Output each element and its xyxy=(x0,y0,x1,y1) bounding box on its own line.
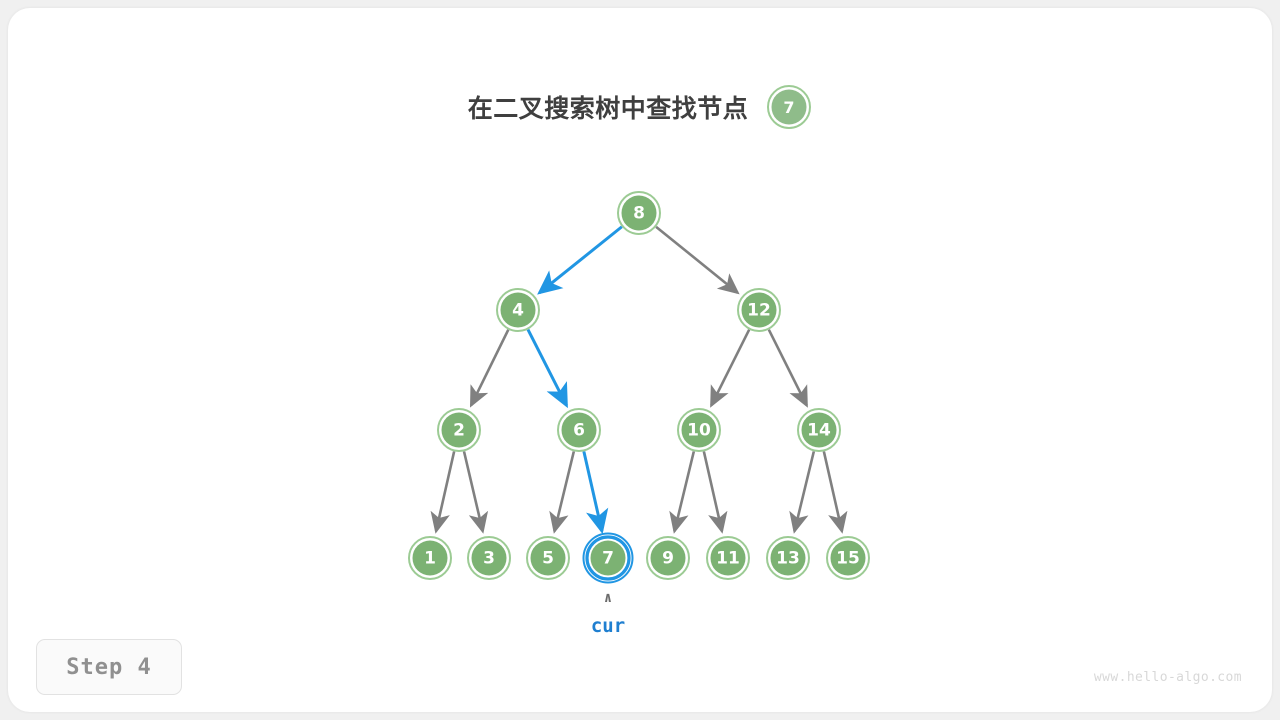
tree-node-9[interactable]: 9 xyxy=(647,537,689,579)
watermark: www.hello-algo.com xyxy=(1094,670,1242,685)
cur-caret-icon: ∧ xyxy=(604,590,612,606)
step-badge-label: Step 4 xyxy=(66,655,151,680)
tree-edge xyxy=(464,451,483,531)
node-value: 13 xyxy=(776,549,800,569)
node-value: 14 xyxy=(807,421,831,441)
node-value: 15 xyxy=(836,549,860,569)
tree-edge xyxy=(584,451,602,531)
tree-edge xyxy=(711,330,749,406)
tree-edge xyxy=(769,330,807,406)
node-value: 8 xyxy=(633,204,645,224)
screenshot-canvas: 在二叉搜索树中查找节点 7 841226101413579111315 ∧ cu… xyxy=(0,0,1280,720)
node-value: 1 xyxy=(424,549,436,569)
tree-edge xyxy=(539,227,621,293)
tree-node-10[interactable]: 10 xyxy=(678,409,720,451)
tree-edge xyxy=(794,451,813,531)
tree-edge xyxy=(554,451,573,531)
tree-node-15[interactable]: 15 xyxy=(827,537,869,579)
tree-edge xyxy=(471,330,508,406)
tree-node-6[interactable]: 6 xyxy=(558,409,600,451)
cur-pointer: ∧ cur xyxy=(591,590,625,637)
tree-node-14[interactable]: 14 xyxy=(798,409,840,451)
node-value: 10 xyxy=(687,421,711,441)
tree-nodes: 841226101413579111315 xyxy=(409,192,869,583)
step-badge: Step 4 xyxy=(36,639,182,695)
node-value: 4 xyxy=(512,301,524,321)
tree-edge xyxy=(674,451,693,531)
node-value: 7 xyxy=(602,549,614,569)
node-value: 12 xyxy=(747,301,771,321)
tree-edge xyxy=(824,451,842,531)
tree-edge xyxy=(704,451,722,531)
tree-node-11[interactable]: 11 xyxy=(707,537,749,579)
node-value: 6 xyxy=(573,421,585,441)
cur-pointer-label: cur xyxy=(591,615,625,637)
tree-edge xyxy=(656,227,738,293)
tree-edge xyxy=(528,330,567,406)
node-value: 3 xyxy=(483,549,495,569)
tree-node-5[interactable]: 5 xyxy=(527,537,569,579)
tree-edge xyxy=(436,451,454,531)
tree-node-1[interactable]: 1 xyxy=(409,537,451,579)
tree-node-2[interactable]: 2 xyxy=(438,409,480,451)
tree-node-4[interactable]: 4 xyxy=(497,289,539,331)
tree-node-7[interactable]: 7 xyxy=(584,534,633,583)
node-value: 11 xyxy=(716,549,740,569)
tree-edges xyxy=(436,227,842,532)
node-value: 9 xyxy=(662,549,674,569)
node-value: 2 xyxy=(453,421,465,441)
tree-node-13[interactable]: 13 xyxy=(767,537,809,579)
tree-node-8[interactable]: 8 xyxy=(618,192,660,234)
node-value: 5 xyxy=(542,549,554,569)
binary-search-tree-diagram: 841226101413579111315 ∧ cur xyxy=(0,0,1280,720)
tree-node-12[interactable]: 12 xyxy=(738,289,780,331)
tree-node-3[interactable]: 3 xyxy=(468,537,510,579)
